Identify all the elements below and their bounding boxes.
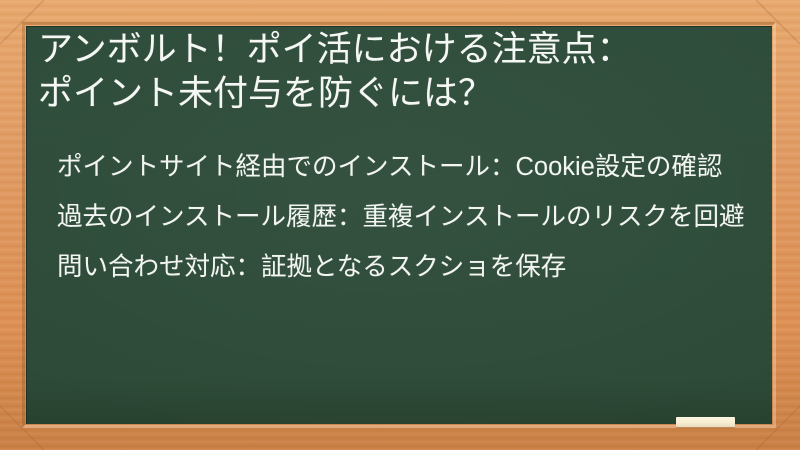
board-list: ポイントサイト経由でのインストール：Cookie設定の確認 過去のインストール履… bbox=[38, 148, 762, 286]
blackboard-frame: アンボルト！ポイ活における注意点： ポイント未付与を防ぐには？ ポイントサイト経… bbox=[0, 0, 800, 450]
board-list-item: 問い合わせ対応：証拠となるスクショを保存 bbox=[38, 248, 762, 286]
chalk-stick-icon bbox=[676, 417, 735, 427]
board-list-item: ポイントサイト経由でのインストール：Cookie設定の確認 bbox=[38, 148, 762, 186]
board-list-item: 過去のインストール履歴：重複インストールのリスクを回避 bbox=[38, 198, 762, 236]
chalkboard-surface: アンボルト！ポイ活における注意点： ポイント未付与を防ぐには？ ポイントサイト経… bbox=[26, 26, 772, 424]
board-title: アンボルト！ポイ活における注意点： ポイント未付与を防ぐには？ bbox=[38, 28, 762, 116]
